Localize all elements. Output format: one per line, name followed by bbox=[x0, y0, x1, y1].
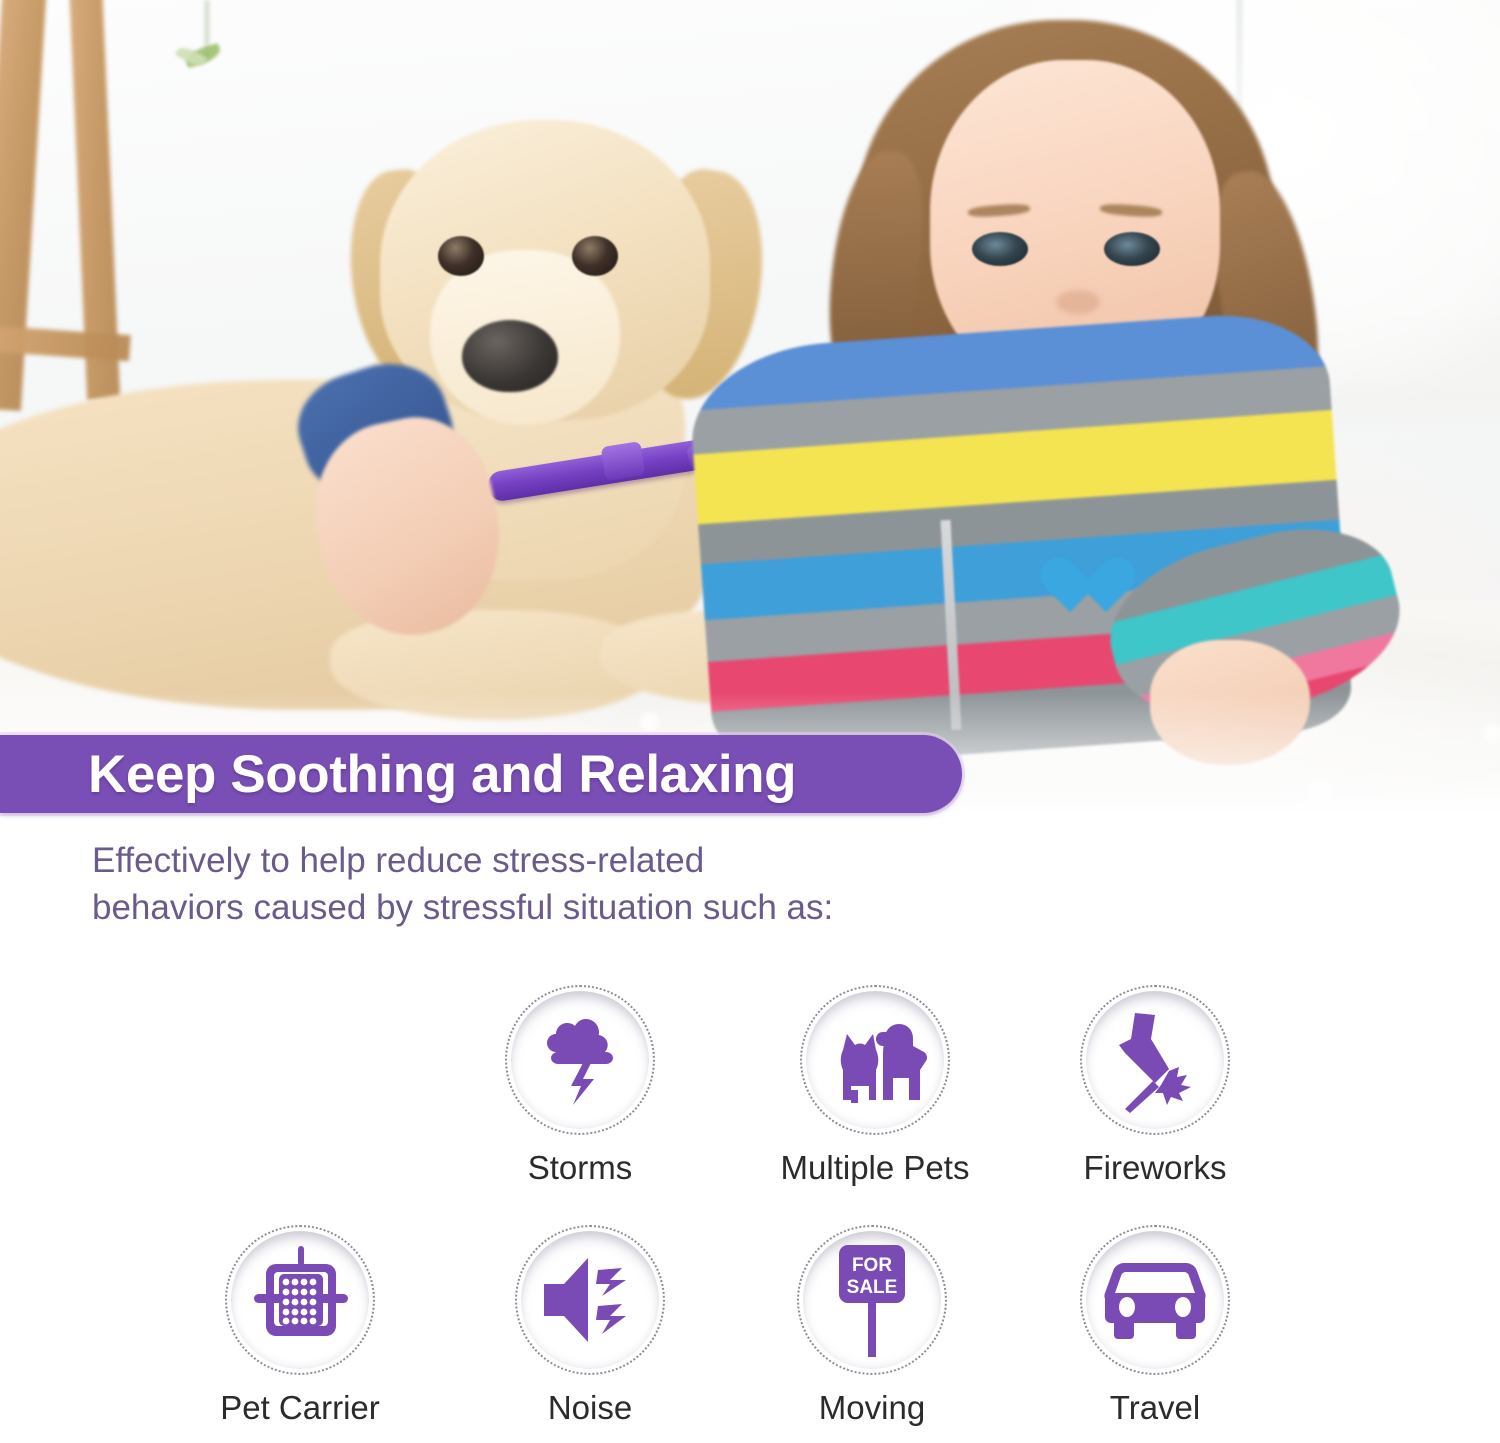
page-title: Keep Soothing and Relaxing bbox=[88, 744, 796, 805]
icon-label: Moving bbox=[772, 1389, 972, 1427]
storm-cloud-lightning-icon bbox=[507, 987, 653, 1133]
icon-circle bbox=[515, 1225, 665, 1375]
stress-situations-grid: Storms Multip bbox=[0, 960, 1500, 1443]
firework-rocket-icon bbox=[1082, 987, 1228, 1133]
icon-circle: FOR SALE bbox=[797, 1225, 947, 1375]
for-sale-line-1: FOR bbox=[852, 1255, 892, 1276]
girl-eye bbox=[1104, 232, 1160, 266]
subtitle-line-1: Effectively to help reduce stress-relate… bbox=[92, 838, 1072, 885]
icon-label: Noise bbox=[490, 1389, 690, 1427]
grid-item-travel[interactable]: Travel bbox=[1055, 1225, 1255, 1427]
girl-eye bbox=[972, 232, 1028, 266]
heart-patch bbox=[1040, 560, 1106, 620]
cat-and-dog-icon bbox=[802, 987, 948, 1133]
dog-eye bbox=[438, 236, 484, 276]
subtitle-line-2: behaviors caused by stressful situation … bbox=[92, 885, 1072, 932]
grid-item-noise[interactable]: Noise bbox=[490, 1225, 690, 1427]
grid-item-storms[interactable]: Storms bbox=[480, 985, 680, 1187]
grid-item-multiple-pets[interactable]: Multiple Pets bbox=[775, 985, 975, 1187]
hero-photo bbox=[0, 0, 1500, 812]
car-icon bbox=[1082, 1227, 1228, 1373]
grid-item-fireworks[interactable]: Fireworks bbox=[1055, 985, 1255, 1187]
icon-circle bbox=[1080, 985, 1230, 1135]
pet-carrier-icon bbox=[227, 1227, 373, 1373]
speaker-noise-icon bbox=[517, 1227, 663, 1373]
dog-nose bbox=[462, 320, 558, 392]
icon-label: Fireworks bbox=[1055, 1149, 1255, 1187]
icon-circle bbox=[800, 985, 950, 1135]
for-sale-sign-icon: FOR SALE bbox=[799, 1227, 945, 1373]
icon-label: Travel bbox=[1055, 1389, 1255, 1427]
icon-label: Multiple Pets bbox=[775, 1149, 975, 1187]
grid-item-pet-carrier[interactable]: Pet Carrier bbox=[200, 1225, 400, 1427]
for-sale-line-2: SALE bbox=[847, 1277, 898, 1298]
dog-eye bbox=[572, 236, 618, 276]
product-infographic: Keep Soothing and Relaxing Effectively t… bbox=[0, 0, 1500, 1443]
headline-banner: Keep Soothing and Relaxing bbox=[0, 735, 962, 813]
grid-item-moving[interactable]: FOR SALE Moving bbox=[772, 1225, 972, 1427]
icon-circle bbox=[505, 985, 655, 1135]
icon-circle bbox=[225, 1225, 375, 1375]
icon-label: Pet Carrier bbox=[200, 1389, 400, 1427]
subtitle-block: Effectively to help reduce stress-relate… bbox=[92, 838, 1072, 931]
icon-label: Storms bbox=[480, 1149, 680, 1187]
calming-collar-buckle bbox=[601, 441, 646, 481]
icon-circle bbox=[1080, 1225, 1230, 1375]
girl-nose bbox=[1056, 290, 1100, 314]
